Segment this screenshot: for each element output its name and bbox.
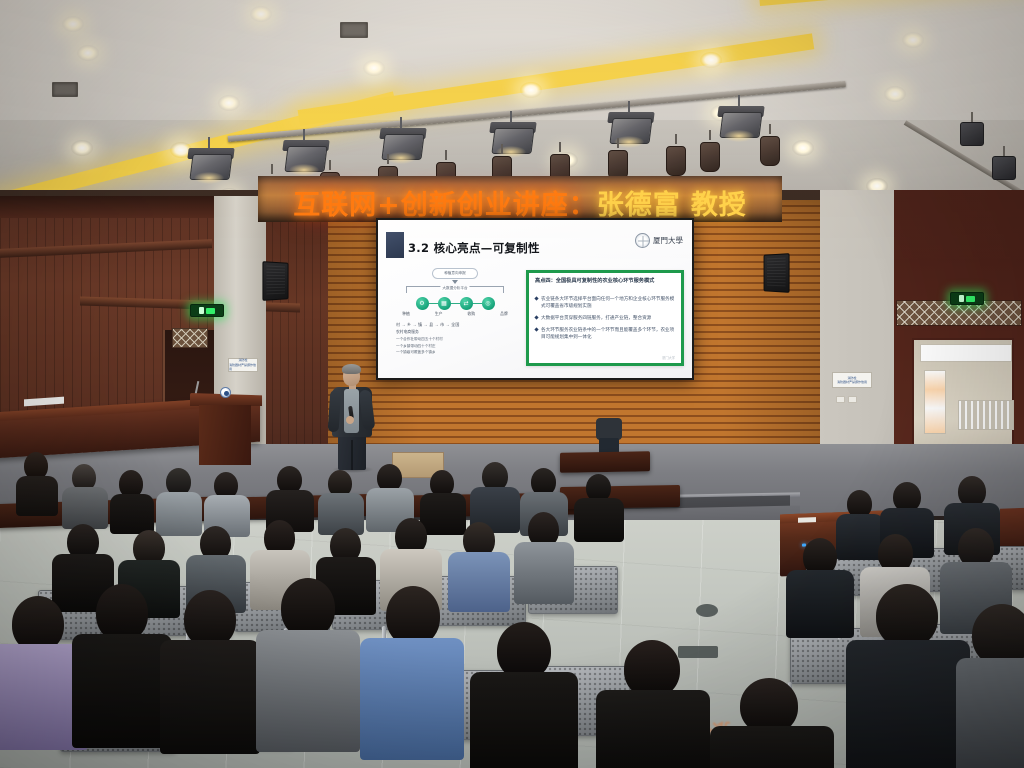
ceiling-downlight bbox=[792, 140, 814, 156]
diagram-bracket: 大数据分析平台 bbox=[406, 286, 504, 293]
exit-sign-left bbox=[190, 304, 224, 317]
audience-member bbox=[72, 584, 168, 744]
diagram-list: 一个合作社带动四五十个村村 一个乡镇带动四十个村庄 一个镇级可覆盖多个镇乡 bbox=[396, 337, 514, 355]
ceiling-downlight bbox=[77, 45, 99, 61]
exit-sign-right bbox=[950, 292, 984, 305]
highlight-box-bullet-list: 农业链条大环节选择平台面向任何一个地方和企业核心环节服务模式可覆盖省市级规划实施… bbox=[535, 295, 675, 341]
audience-member bbox=[574, 474, 622, 538]
diagram-bracket-label: 大数据分析平台 bbox=[440, 286, 469, 291]
diagram-link bbox=[451, 303, 460, 305]
podium-emblem-icon bbox=[220, 387, 231, 398]
projection-screen: 3.2 核心亮点—可复制性 厦門大學 种植意向申报 大数据分析平台 ⚙ ▦ ⇄ bbox=[376, 218, 694, 380]
diagram-node-labels: 种植 生产 收购 品牌 bbox=[398, 312, 512, 317]
slide-title: 3.2 核心亮点—可复制性 bbox=[408, 240, 540, 256]
exit-arrow-icon bbox=[966, 296, 975, 302]
slide-title-accent-bar bbox=[386, 232, 404, 258]
led-banner-speaker-title: 教授 bbox=[691, 183, 747, 222]
diagram-list-item: 一个镇级可覆盖多个镇乡 bbox=[396, 350, 514, 355]
audience-member bbox=[318, 470, 362, 532]
par-can-light bbox=[666, 140, 688, 180]
stage-spotlight bbox=[188, 148, 234, 188]
diagram-list-item: 一个合作社带动四五十个村村 bbox=[396, 337, 514, 342]
wall-mounted-speaker-right bbox=[764, 253, 790, 293]
diagram-node-label: 生产 bbox=[431, 312, 447, 317]
audience-member bbox=[786, 538, 852, 636]
ceiling-slab bbox=[0, 0, 1024, 120]
wood-panel-wall-left-top-trim bbox=[0, 196, 216, 218]
audience-member bbox=[160, 590, 256, 750]
ceiling-downlight bbox=[363, 60, 385, 76]
led-banner-speaker-name: 张德富 bbox=[597, 183, 681, 222]
par-can-light bbox=[760, 130, 782, 170]
diagram-down-arrow-icon bbox=[452, 280, 458, 284]
ceiling-downlight bbox=[71, 140, 93, 156]
ceiling-downlight bbox=[62, 16, 84, 32]
par-can-light bbox=[700, 136, 722, 176]
ceiling-downlight bbox=[884, 86, 906, 102]
presentation-slide: 3.2 核心亮点—可复制性 厦門大學 种植意向申报 大数据分析平台 ⚙ ▦ ⇄ bbox=[378, 220, 692, 378]
diamond-bullet-icon bbox=[534, 327, 538, 331]
lecture-hall-photo: 消防栓 消防器材严禁挪作他用 消防栓 消防器材严禁挪作他用 互联网+创新创业讲座… bbox=[0, 0, 1024, 768]
highlight-bullet-item: 大数据平台贯穿服务四链服务，打通产业链，整合资源 bbox=[535, 314, 675, 322]
diagram-chain-text: 村 → 乡 → 镇 → 县 → 市 → 全国 bbox=[396, 322, 514, 328]
highlight-bullet-item: 农业链条大环节选择平台面向任何一个地方和企业核心环节服务模式可覆盖省市级规划实施 bbox=[535, 295, 675, 310]
slide-highlight-box: 高点四：全国极具可复制性的农业核心环节服务模式 农业链条大环节选择平台面向任何一… bbox=[526, 270, 684, 366]
ceiling-vent bbox=[340, 22, 368, 38]
highlight-bullet-item: 各大环节服务农业链条中的一个环节而且能覆盖多个环节，农业项目可能规划集中到一体化 bbox=[535, 326, 675, 341]
desk-paper bbox=[798, 517, 816, 523]
ceiling-downlight bbox=[250, 6, 272, 22]
audience-member bbox=[514, 512, 572, 602]
audience-member bbox=[710, 678, 830, 768]
highlight-bullet-text: 农业链条大环节选择平台面向任何一个地方和企业核心环节服务模式可覆盖省市级规划实施 bbox=[541, 295, 675, 310]
side-stage-light bbox=[960, 118, 986, 148]
wall-notice-sign-left: 消防栓 消防器材严禁挪作他用 bbox=[228, 358, 258, 372]
diagram-sub-label: 农村电商服务 bbox=[396, 330, 514, 335]
audience-member bbox=[470, 622, 574, 768]
exit-running-man-icon bbox=[199, 307, 204, 314]
diagram-node-label: 品牌 bbox=[496, 312, 512, 317]
wall-sign-line-2: 消防器材严禁挪作他用 bbox=[837, 380, 867, 385]
ceiling-vent bbox=[52, 82, 78, 97]
diagram-top-label: 种植意向申报 bbox=[432, 268, 478, 279]
led-banner-prefix: 互联网+创新创业讲座： bbox=[293, 183, 597, 222]
exit-running-man-icon bbox=[959, 295, 964, 302]
diagram-link bbox=[473, 303, 482, 305]
diagram-list-item: 一个乡镇带动四十个村庄 bbox=[396, 344, 514, 349]
floor-drain-cover bbox=[696, 604, 718, 617]
diamond-bullet-icon bbox=[534, 296, 538, 300]
wall-socket[interactable] bbox=[836, 396, 845, 403]
highlight-bullet-text: 各大环节服务农业链条中的一个环节而且能覆盖多个环节，农业项目可能规划集中到一体化 bbox=[541, 326, 675, 341]
university-logo: 厦門大學 bbox=[635, 233, 683, 248]
ceiling-downlight bbox=[218, 95, 240, 111]
diagram-node-row: ⚙ ▦ ⇄ ◎ bbox=[396, 297, 514, 310]
door-lattice-window-left bbox=[172, 328, 208, 348]
audience-member bbox=[62, 464, 106, 526]
exit-arrow-icon bbox=[206, 308, 215, 314]
wall-sign-line-2: 消防器材严禁挪作他用 bbox=[229, 363, 257, 372]
stage-spotlight bbox=[718, 106, 764, 146]
highlight-box-credit: 厦门大学 bbox=[662, 355, 675, 360]
audience-member bbox=[360, 586, 460, 756]
diamond-bullet-icon bbox=[534, 315, 538, 319]
slide-flow-diagram: 种植意向申报 大数据分析平台 ⚙ ▦ ⇄ ◎ 种植 生产 收购 bbox=[396, 268, 514, 355]
diagram-node-label: 收购 bbox=[463, 312, 479, 317]
diagram-node: ⇄ bbox=[460, 297, 473, 310]
corridor-railing bbox=[958, 400, 1014, 430]
audience-member bbox=[956, 604, 1024, 768]
front-bench-row bbox=[560, 451, 650, 473]
audience-member bbox=[16, 452, 56, 514]
side-stage-light bbox=[992, 152, 1018, 182]
audience-member bbox=[846, 584, 966, 768]
led-banner: 互联网+创新创业讲座：张德富教授 bbox=[258, 182, 782, 222]
university-logo-text: 厦門大學 bbox=[653, 235, 683, 246]
diagram-node: ◎ bbox=[482, 297, 495, 310]
diagram-link bbox=[429, 303, 438, 305]
audience-member bbox=[470, 462, 518, 530]
diagram-node-label: 种植 bbox=[398, 312, 414, 317]
highlight-box-header: 高点四：全国极具可复制性的农业核心环节服务模式 bbox=[535, 278, 675, 290]
audience-member bbox=[256, 578, 356, 748]
ceiling-downlight bbox=[700, 52, 722, 68]
corridor-poster-vertical bbox=[924, 370, 946, 434]
wall-notice-sign-right: 消防栓 消防器材严禁挪作他用 bbox=[832, 372, 872, 388]
lectern-podium bbox=[190, 393, 262, 465]
audience-member bbox=[596, 640, 706, 768]
highlight-bullet-text: 大数据平台贯穿服务四链服务，打通产业链，整合资源 bbox=[541, 314, 651, 322]
wall-socket[interactable] bbox=[848, 396, 857, 403]
wall-mounted-speaker-left bbox=[262, 261, 288, 301]
audience-member bbox=[110, 470, 152, 532]
ceiling-downlight bbox=[902, 32, 924, 48]
audience-member bbox=[204, 472, 248, 534]
diagram-node: ⚙ bbox=[416, 297, 429, 310]
corridor-poster-banner bbox=[920, 344, 1012, 362]
xmu-seal-icon bbox=[635, 233, 650, 248]
audience-member bbox=[156, 468, 200, 534]
ceiling-downlight bbox=[520, 82, 542, 98]
presenter bbox=[330, 366, 374, 470]
diagram-node: ▦ bbox=[438, 297, 451, 310]
